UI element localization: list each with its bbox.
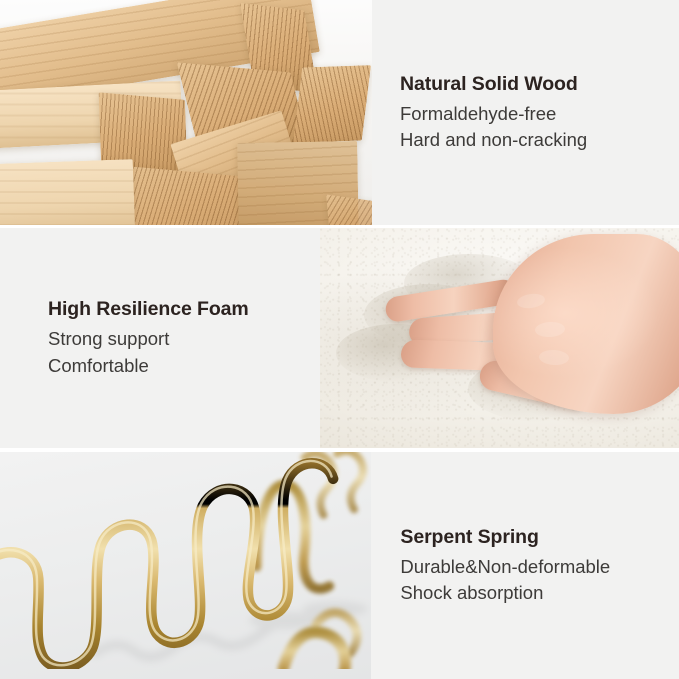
gold-serpentine-springs-image	[0, 452, 371, 679]
serpentine-spring-graphic	[0, 452, 371, 669]
feature-line: Hard and non-cracking	[400, 127, 679, 153]
wood-photo-panel	[0, 0, 372, 225]
spring-text-panel: Serpent Spring Durable&Non-deformable Sh…	[371, 452, 679, 679]
foam-photo-panel	[320, 228, 679, 448]
wood-plank	[0, 159, 135, 225]
palm	[493, 234, 679, 414]
feature-title-high-resilience-foam: High Resilience Foam	[48, 297, 320, 321]
wood-text-panel: Natural Solid Wood Formaldehyde-free Har…	[372, 0, 679, 225]
feature-line: Shock absorption	[400, 580, 679, 606]
foreground-blurred-loop	[283, 632, 345, 669]
feature-line: Durable&Non-deformable	[400, 554, 679, 580]
feature-row-serpent-spring: Serpent Spring Durable&Non-deformable Sh…	[0, 452, 679, 679]
foam-text-panel: High Resilience Foam Strong support Comf…	[0, 228, 320, 448]
feature-line: Formaldehyde-free	[400, 101, 679, 127]
hand	[367, 230, 679, 445]
row-divider	[0, 448, 679, 451]
feature-line: Strong support	[48, 326, 320, 352]
hand-pressing-foam-image	[320, 228, 679, 448]
feature-line: Comfortable	[48, 353, 320, 379]
foreground-spring	[0, 461, 333, 668]
wood-plank-end-grain	[293, 65, 371, 143]
feature-title-natural-solid-wood: Natural Solid Wood	[400, 72, 679, 96]
feature-row-high-resilience-foam: High Resilience Foam Strong support Comf…	[0, 228, 679, 448]
wood-plank-end-grain	[326, 194, 372, 225]
feature-title-serpent-spring: Serpent Spring	[400, 525, 679, 549]
stacked-wooden-planks-image	[0, 0, 372, 225]
feature-row-natural-solid-wood: Natural Solid Wood Formaldehyde-free Har…	[0, 0, 679, 225]
spring-photo-panel	[0, 452, 371, 679]
product-feature-infographic: Natural Solid Wood Formaldehyde-free Har…	[0, 0, 679, 679]
